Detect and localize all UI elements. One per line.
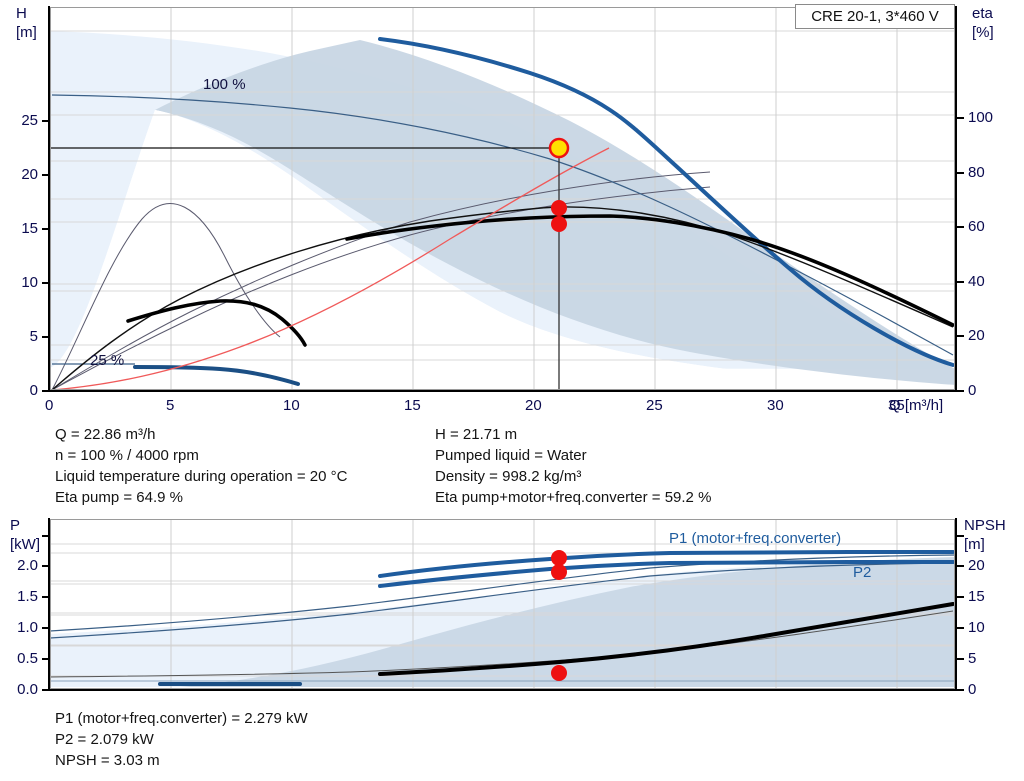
tick-h-5: [42, 336, 49, 338]
npsh-tick-20: 20: [968, 558, 985, 573]
x-tick-0: 0: [45, 398, 53, 413]
eta-pump-duty-marker[interactable]: [551, 200, 567, 216]
eta-tick-80: 80: [968, 165, 985, 180]
tick-eta-80: [957, 172, 964, 174]
tick-p-0: [42, 689, 49, 691]
x-tick-15: 15: [404, 398, 421, 413]
pump-curve-page: CRE 20-1, 3*460 V: [0, 0, 1024, 781]
power-info-line-2: P2 = 2.079 kW: [55, 729, 154, 750]
eta-tick-0: 0: [968, 383, 976, 398]
duty-info-right-line-3: Density = 998.2 kg/m³: [435, 466, 581, 487]
tick-eta-20: [957, 335, 964, 337]
tick-npsh-5: [957, 658, 964, 660]
tick-p-05: [42, 658, 49, 660]
eta-tick-100: 100: [968, 110, 993, 125]
tick-npsh-0: [957, 689, 964, 691]
top-chart-y2-axis-label: eta [%]: [972, 4, 994, 42]
tick-h-20: [42, 174, 49, 176]
eta-tick-40: 40: [968, 274, 985, 289]
p1-duty-marker[interactable]: [551, 550, 567, 566]
tick-npsh-10: [957, 627, 964, 629]
p2-series-label: P2: [853, 564, 871, 581]
p2-duty-marker[interactable]: [551, 564, 567, 580]
speed-label-25-percent: 25 %: [90, 352, 124, 369]
eta-total-duty-marker[interactable]: [551, 216, 567, 232]
bottom-chart-y-axis-label: P [kW]: [10, 516, 40, 554]
tick-npsh-20: [957, 565, 964, 567]
x-tick-30: 30: [767, 398, 784, 413]
npsh-tick-5: 5: [968, 651, 976, 666]
tick-p-10: [42, 627, 49, 629]
y-tick-20: 20: [4, 167, 38, 182]
duty-info-right-line-2: Pumped liquid = Water: [435, 445, 587, 466]
tick-h-10: [42, 282, 49, 284]
p-tick-05: 0.5: [0, 651, 38, 666]
duty-info-right-line-1: H = 21.71 m: [435, 424, 517, 445]
p1-series-label: P1 (motor+freq.converter): [669, 530, 841, 547]
tick-p-20: [42, 565, 49, 567]
tick-eta-40: [957, 281, 964, 283]
tick-p-15: [42, 596, 49, 598]
x-tick-25: 25: [646, 398, 663, 413]
power-info-line-1: P1 (motor+freq.converter) = 2.279 kW: [55, 708, 308, 729]
duty-info-left-line-2: n = 100 % / 4000 rpm: [55, 445, 199, 466]
duty-point-marker[interactable]: [550, 139, 568, 157]
top-chart-y-axis: [48, 6, 50, 392]
tick-p-25: [42, 535, 49, 537]
tick-eta-100: [957, 117, 964, 119]
power-info-line-3: NPSH = 3.03 m: [55, 750, 160, 771]
npsh-tick-15: 15: [968, 589, 985, 604]
top-chart-y-axis-label: H [m]: [16, 4, 37, 42]
duty-info-right-line-4: Eta pump+motor+freq.converter = 59.2 %: [435, 487, 711, 508]
bottom-chart-y2-axis-label: NPSH [m]: [964, 516, 1006, 554]
pump-model-title: CRE 20-1, 3*460 V: [795, 4, 955, 29]
bottom-chart-x-axis: [48, 689, 957, 691]
p-tick-00: 0.0: [0, 682, 38, 697]
tick-h-15: [42, 228, 49, 230]
x-tick-5: 5: [166, 398, 174, 413]
speed-label-100-percent: 100 %: [203, 76, 246, 93]
top-chart-x-axis: [48, 390, 957, 392]
x-tick-10: 10: [283, 398, 300, 413]
head-chart-svg: [50, 7, 955, 390]
x-tick-20: 20: [525, 398, 542, 413]
duty-info-left-line-1: Q = 22.86 m³/h: [55, 424, 155, 445]
tick-h-25: [42, 120, 49, 122]
bottom-chart-y-axis: [48, 518, 50, 691]
y-tick-25: 25: [4, 113, 38, 128]
eta-tick-20: 20: [968, 328, 985, 343]
p-tick-15: 1.5: [0, 589, 38, 604]
tick-npsh-15: [957, 596, 964, 598]
p-tick-10: 1.0: [0, 620, 38, 635]
head-efficiency-chart[interactable]: [50, 7, 955, 390]
p-tick-20: 2.0: [0, 558, 38, 573]
npsh-duty-marker[interactable]: [551, 665, 567, 681]
eta-tick-60: 60: [968, 219, 985, 234]
npsh-tick-10: 10: [968, 620, 985, 635]
npsh-tick-0: 0: [968, 682, 976, 697]
x-tick-35: 35: [888, 398, 905, 413]
tick-eta-60: [957, 226, 964, 228]
y-tick-10: 10: [4, 275, 38, 290]
y-tick-15: 15: [4, 221, 38, 236]
tick-h-0: [42, 390, 49, 392]
y-tick-0: 0: [10, 383, 38, 398]
bottom-chart-y2-axis: [955, 518, 957, 691]
tick-eta-0: [957, 390, 964, 392]
duty-info-left-line-4: Eta pump = 64.9 %: [55, 487, 183, 508]
tick-npsh-25: [957, 535, 964, 537]
y-tick-5: 5: [10, 329, 38, 344]
duty-info-left-line-3: Liquid temperature during operation = 20…: [55, 466, 347, 487]
